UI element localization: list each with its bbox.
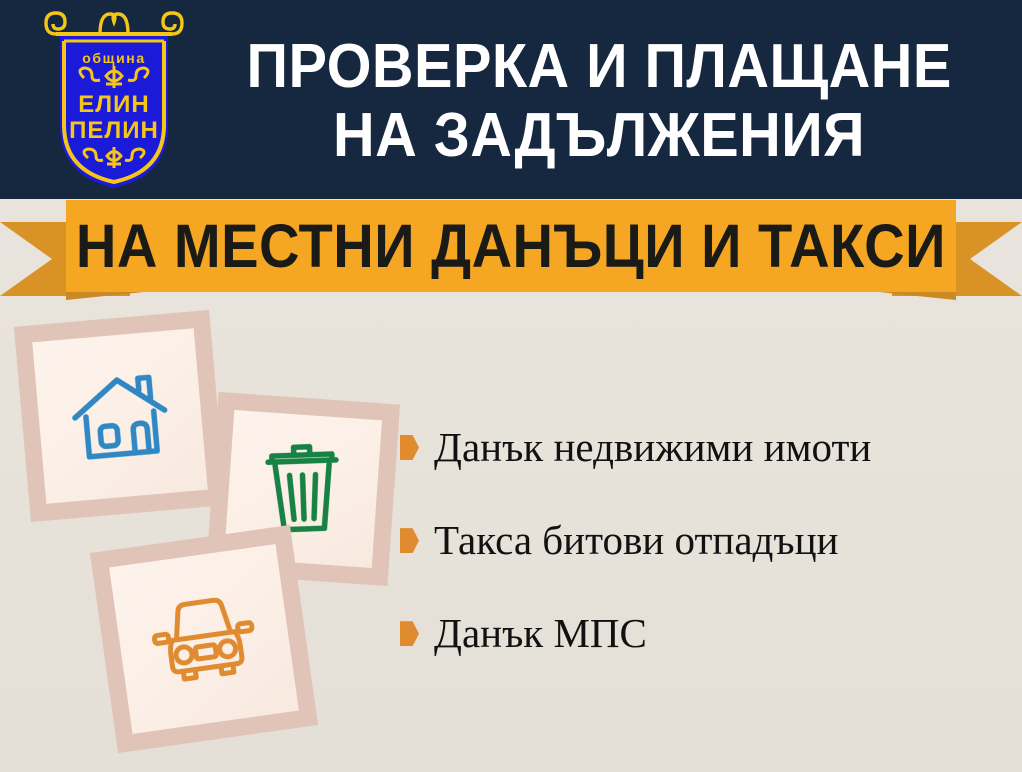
list-item-label: Данък недвижими имоти [434, 425, 871, 470]
title-line-2: НА ЗАДЪЛЖЕНИЯ [333, 101, 865, 170]
coat-of-arms: община ЕЛИН ПЕЛИН [44, 8, 184, 192]
svg-text:община: община [82, 50, 145, 66]
svg-text:ЕЛИН: ЕЛИН [78, 91, 149, 118]
poster-canvas: община ЕЛИН ПЕЛИН ПРОВЕРКА И П [0, 0, 1022, 772]
trash-icon [256, 438, 350, 540]
stamp-face-house [32, 328, 208, 504]
car-icon [146, 589, 263, 689]
stamp-card-car [90, 525, 318, 753]
ribbon-label: НА МЕСТНИ ДАНЪЦИ И ТАКСИ [76, 211, 946, 281]
stamp-face-car [109, 544, 299, 734]
list-item[interactable]: Данък недвижими имоти [400, 425, 1010, 470]
ribbon-banner: НА МЕСТНИ ДАНЪЦИ И ТАКСИ [66, 200, 956, 292]
house-icon [66, 366, 174, 466]
title-line-1: ПРОВЕРКА И ПЛАЩАНЕ [246, 32, 951, 101]
list-item[interactable]: Данък МПС [400, 611, 1010, 656]
list-item[interactable]: Такса битови отпадъци [400, 518, 1010, 563]
arrow-bullet-icon [400, 621, 419, 646]
arrow-bullet-icon [400, 435, 419, 460]
subtitle-ribbon: НА МЕСТНИ ДАНЪЦИ И ТАКСИ [0, 196, 1022, 306]
svg-text:ПЕЛИН: ПЕЛИН [69, 117, 159, 144]
arrow-bullet-icon [400, 528, 419, 553]
list-item-label: Такса битови отпадъци [434, 518, 838, 563]
page-title: ПРОВЕРКА И ПЛАЩАНЕ НА ЗАДЪЛЖЕНИЯ [190, 16, 1008, 186]
stamp-card-house [14, 310, 226, 522]
services-list: Данък недвижими имоти Такса битови отпад… [400, 425, 1010, 656]
list-item-label: Данък МПС [434, 611, 647, 656]
